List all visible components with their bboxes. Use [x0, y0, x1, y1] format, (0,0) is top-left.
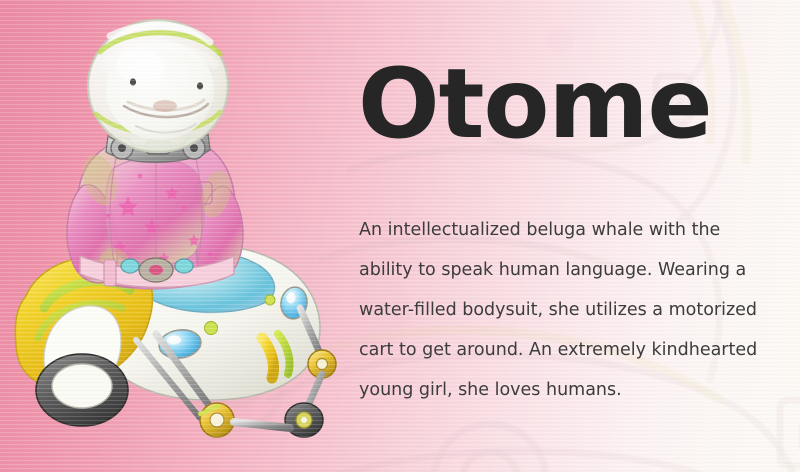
dome-helmet [88, 20, 228, 152]
character-illustration [4, 8, 352, 470]
rear-wheel [36, 354, 128, 426]
character-description: An intellectualized beluga whale with th… [359, 210, 759, 410]
character-name-title: Otome [358, 54, 712, 154]
character-profile-card: Otome An intellectualized beluga whale w… [0, 0, 800, 472]
character-text-block: Otome An intellectualized beluga whale w… [358, 0, 778, 472]
